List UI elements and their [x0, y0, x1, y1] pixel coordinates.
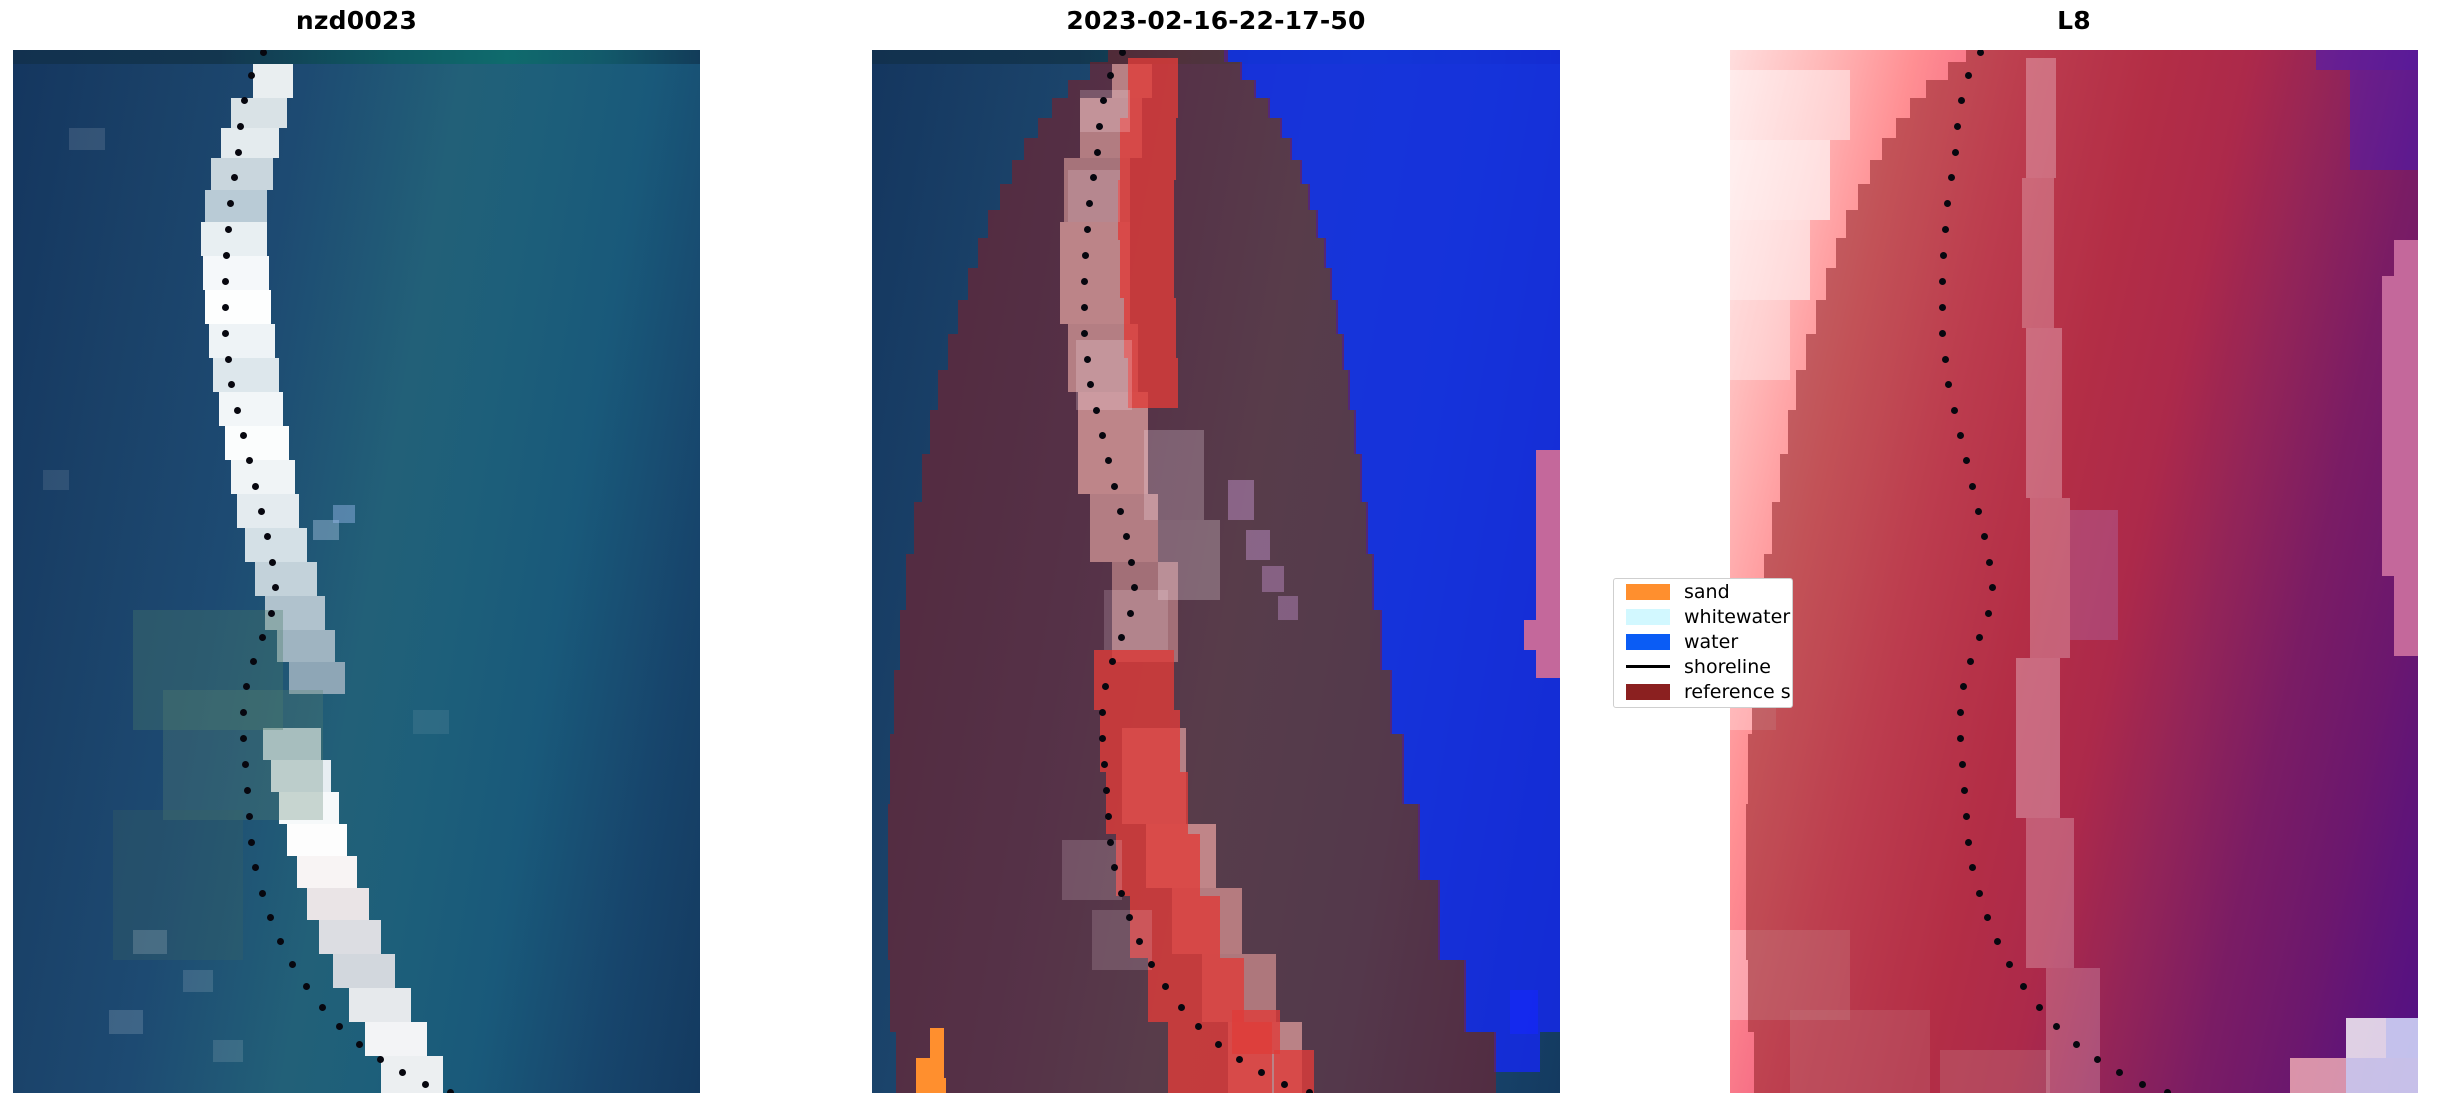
shoreline-dot	[1084, 226, 1091, 233]
shoreline-dot	[1939, 330, 1946, 337]
shoreline-dot	[272, 584, 279, 591]
shoreline-dot	[1131, 584, 1138, 591]
shoreline-dot	[1957, 735, 1964, 742]
shoreline-dot	[1306, 1089, 1313, 1093]
shoreline-dot	[223, 252, 230, 259]
shoreline-dot	[1965, 839, 1972, 846]
panel-title-index-image: L8	[1730, 6, 2418, 36]
shoreline-dot	[2164, 1089, 2171, 1093]
shoreline-dot	[225, 356, 232, 363]
shoreline-dot	[1965, 72, 1972, 79]
shoreline-dot	[268, 610, 275, 617]
shoreline-dot	[1952, 149, 1959, 156]
shoreline-dot	[248, 72, 255, 79]
shoreline-dot	[1940, 252, 1947, 259]
shoreline-dot	[2094, 1056, 2101, 1063]
shoreline-dot	[242, 761, 249, 768]
shoreline-dot	[1107, 839, 1114, 846]
shoreline-dot	[1107, 72, 1114, 79]
legend-item-whitewater: whitewater	[1614, 604, 1792, 629]
shoreline-dot	[1099, 735, 1106, 742]
shoreline-dot	[319, 1004, 326, 1011]
shoreline-dot	[1985, 610, 1992, 617]
shoreline-dot	[240, 735, 247, 742]
shoreline-dot	[1942, 356, 1949, 363]
shoreline-dot	[377, 1056, 384, 1063]
legend-label-water: water	[1684, 631, 1738, 653]
shoreline-dot	[1976, 890, 1983, 897]
legend-label-sand: sand	[1684, 581, 1730, 603]
shoreline-dot	[1969, 483, 1976, 490]
legend-label-whitewater: whitewater	[1684, 606, 1790, 628]
shoreline-dot	[222, 278, 229, 285]
shoreline-dot	[1942, 226, 1949, 233]
legend-label-reference-shoreline: reference shoreline	[1684, 681, 1793, 703]
index-bottom-right-corner	[1730, 50, 2418, 1093]
shoreline-dot	[225, 226, 232, 233]
shoreline-dot	[1094, 149, 1101, 156]
shoreline-dot	[1957, 432, 1964, 439]
shoreline-dot	[1939, 278, 1946, 285]
shoreline-dot	[252, 483, 259, 490]
panel-title-classification: 2023-02-16-22-17-50	[872, 6, 1560, 36]
shoreline-dot	[447, 1089, 454, 1093]
shoreline-dot	[244, 787, 251, 794]
shoreline-dot	[1178, 1004, 1185, 1011]
shoreline-dot	[1127, 610, 1134, 617]
shoreline-dot	[1101, 761, 1108, 768]
shoreline-dot	[258, 508, 265, 515]
shoreline-dot	[240, 709, 247, 716]
shoreline-dot	[1215, 1041, 1222, 1048]
shoreline-line-swatch	[1626, 665, 1670, 668]
shoreline-dot	[1119, 50, 1126, 56]
shoreline-dot	[1081, 278, 1088, 285]
shoreline-dot	[1236, 1056, 1243, 1063]
right-edge-strip	[872, 50, 1560, 1093]
panel-classification[interactable]	[872, 50, 1560, 1093]
shoreline-dot	[235, 149, 242, 156]
shoreline-dot	[246, 813, 253, 820]
shoreline-dot	[269, 559, 276, 566]
legend-label-shoreline: shoreline	[1684, 656, 1771, 678]
shoreline-dot	[259, 890, 266, 897]
shoreline-dot	[1099, 709, 1106, 716]
shoreline-dot	[1959, 761, 1966, 768]
shoreline-dot	[1957, 709, 1964, 716]
shoreline-dot	[1989, 584, 1996, 591]
shoreline-dot	[234, 407, 241, 414]
shoreline-dot	[260, 50, 267, 56]
panel-rgb-image[interactable]	[13, 50, 700, 1093]
shoreline-dot	[1986, 559, 1993, 566]
shoreline-dot	[1093, 407, 1100, 414]
legend-item-sand: sand	[1614, 579, 1792, 604]
shoreline-dot	[356, 1041, 363, 1048]
shoreline-dot	[1081, 330, 1088, 337]
shoreline-dot	[1084, 356, 1091, 363]
shoreline-dot	[1963, 813, 1970, 820]
shoreline-dot	[2036, 1004, 2043, 1011]
legend-item-reference-shoreline: reference shoreline	[1614, 679, 1792, 704]
sand-swatch	[1626, 584, 1670, 600]
shoreline-dot	[1939, 304, 1946, 311]
legend: sand whitewater water shoreline referenc…	[1613, 578, 1793, 708]
shoreline-dot	[1977, 50, 1984, 56]
shoreline-dot	[1117, 508, 1124, 515]
shoreline-dot	[1118, 890, 1125, 897]
legend-item-water: water	[1614, 629, 1792, 654]
shoreline-dot	[248, 839, 255, 846]
shoreline-dot	[1951, 407, 1958, 414]
shoreline-dot	[2073, 1041, 2080, 1048]
panel-index-image[interactable]	[1730, 50, 2418, 1093]
shoreline-dot	[1975, 508, 1982, 515]
shoreline-dot	[1105, 813, 1112, 820]
shoreline-dot	[1961, 787, 1968, 794]
whitewater-swatch	[1626, 609, 1670, 625]
shoreline-dot	[1099, 432, 1106, 439]
shoreline-dot	[1111, 483, 1118, 490]
shoreline-dot	[240, 432, 247, 439]
shoreline-dot	[222, 330, 229, 337]
water-swatch	[1626, 634, 1670, 650]
shoreline-dot	[222, 304, 229, 311]
reference-shoreline-swatch	[1626, 684, 1670, 700]
legend-item-shoreline: shoreline	[1614, 654, 1792, 679]
shoreline-dot	[1103, 787, 1110, 794]
shoreline-dot	[1081, 304, 1088, 311]
shoreline-dot	[1128, 559, 1135, 566]
figure-root: nzd0023	[0, 0, 2460, 1104]
panel-title-rgb-image: nzd0023	[13, 6, 700, 36]
shoreline-dot	[1082, 252, 1089, 259]
rgb-speckle	[13, 50, 700, 1093]
